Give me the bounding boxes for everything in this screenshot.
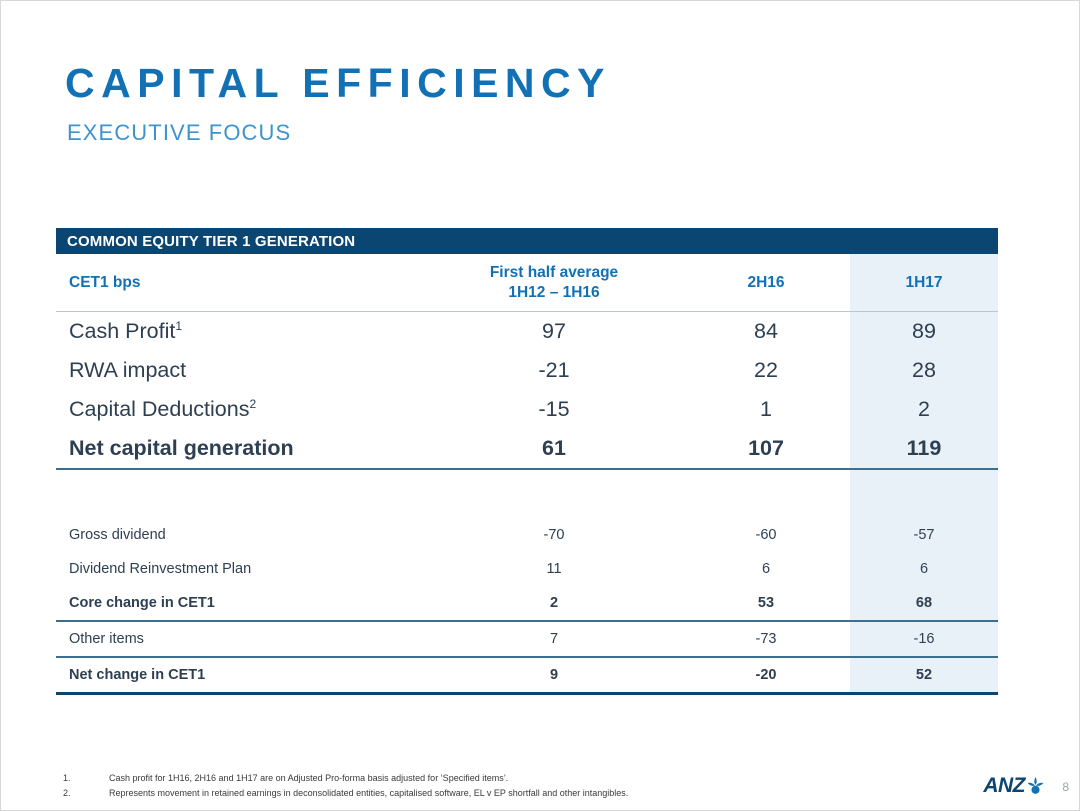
cell-rwa-impact-first-half-average: -21: [426, 351, 682, 390]
cell-core-change-1h17: 68: [850, 586, 998, 621]
cell-drp-first-half-average: 11: [426, 552, 682, 586]
spacer-cell-highlight: [850, 469, 998, 518]
header-col1-line1: First half average: [426, 263, 682, 282]
cell-net-change-2h16: -20: [682, 657, 850, 694]
cell-net-change-1h17: 52: [850, 657, 998, 694]
cell-gross-dividend-2h16: -60: [682, 518, 850, 552]
table-row: Gross dividend -70 -60 -57: [56, 518, 998, 552]
footnote-text: Represents movement in retained earnings…: [109, 788, 628, 799]
table-row-total: Net capital generation 61 107 119: [56, 429, 998, 469]
footnote-text: Cash profit for 1H16, 2H16 and 1H17 are …: [109, 773, 508, 784]
table-row: Capital Deductions2 -15 1 2: [56, 390, 998, 429]
cell-rwa-impact-2h16: 22: [682, 351, 850, 390]
cell-gross-dividend-first-half-average: -70: [426, 518, 682, 552]
row-label-rwa-impact: RWA impact: [56, 351, 426, 390]
cell-net-capital-generation-1h17: 119: [850, 429, 998, 469]
cell-cash-profit-first-half-average: 97: [426, 312, 682, 352]
cell-drp-2h16: 6: [682, 552, 850, 586]
cell-capital-deductions-1h17: 2: [850, 390, 998, 429]
table-row: Dividend Reinvestment Plan 11 6 6: [56, 552, 998, 586]
table-row: Cash Profit1 97 84 89: [56, 312, 998, 352]
cell-cash-profit-2h16: 84: [682, 312, 850, 352]
footnotes-block: 1. Cash profit for 1H16, 2H16 and 1H17 a…: [63, 773, 923, 803]
cell-rwa-impact-1h17: 28: [850, 351, 998, 390]
footnote-ref-2: 2: [249, 397, 256, 411]
spacer-cell: [426, 469, 682, 518]
row-label-net-change-in-cet1: Net change in CET1: [56, 657, 426, 694]
header-col1-line2: 1H12 – 1H16: [426, 283, 682, 302]
footnote-ref-1: 1: [175, 319, 182, 333]
page-title: CAPITAL EFFICIENCY: [65, 63, 611, 104]
cet1-table-container: COMMON EQUITY TIER 1 GENERATION CET1 bps…: [56, 228, 998, 695]
page-number: 8: [1062, 781, 1069, 793]
cell-cash-profit-1h17: 89: [850, 312, 998, 352]
table-section-band: COMMON EQUITY TIER 1 GENERATION: [56, 228, 998, 254]
slide-canvas: CAPITAL EFFICIENCY EXECUTIVE FOCUS COMMO…: [0, 0, 1080, 811]
footnote-item: 2. Represents movement in retained earni…: [63, 788, 923, 799]
cell-capital-deductions-2h16: 1: [682, 390, 850, 429]
cell-capital-deductions-first-half-average: -15: [426, 390, 682, 429]
row-label-net-capital-generation: Net capital generation: [56, 429, 426, 469]
cell-core-change-2h16: 53: [682, 586, 850, 621]
header-col-2h16: 2H16: [682, 254, 850, 312]
header-label-cet1-bps: CET1 bps: [56, 254, 426, 312]
cell-gross-dividend-1h17: -57: [850, 518, 998, 552]
cell-net-capital-generation-first-half-average: 61: [426, 429, 682, 469]
header-col-1h17: 1H17: [850, 254, 998, 312]
table-row-total: Net change in CET1 9 -20 52: [56, 657, 998, 694]
row-label-core-change-in-cet1: Core change in CET1: [56, 586, 426, 621]
row-label-other-items: Other items: [56, 621, 426, 657]
spacer-cell: [56, 469, 426, 518]
page-subtitle: EXECUTIVE FOCUS: [67, 122, 291, 144]
table-row-total: Core change in CET1 2 53 68: [56, 586, 998, 621]
anz-wordmark: ANZ: [983, 775, 1025, 796]
cell-core-change-first-half-average: 2: [426, 586, 682, 621]
footnote-number: 1.: [63, 773, 109, 783]
table-band-label: COMMON EQUITY TIER 1 GENERATION: [67, 234, 355, 249]
footnote-item: 1. Cash profit for 1H16, 2H16 and 1H17 a…: [63, 773, 923, 784]
anz-lotus-icon: [1025, 775, 1046, 796]
cell-net-change-first-half-average: 9: [426, 657, 682, 694]
header-col-first-half-average: First half average 1H12 – 1H16: [426, 254, 682, 312]
cell-net-capital-generation-2h16: 107: [682, 429, 850, 469]
cell-drp-1h17: 6: [850, 552, 998, 586]
row-label-text: Cash Profit: [69, 319, 175, 343]
row-label-capital-deductions: Capital Deductions2: [56, 390, 426, 429]
anz-logo: ANZ: [983, 775, 1046, 796]
table-header-row: CET1 bps First half average 1H12 – 1H16 …: [56, 254, 998, 312]
cell-other-items-2h16: -73: [682, 621, 850, 657]
table-row: RWA impact -21 22 28: [56, 351, 998, 390]
table-spacer-row: [56, 469, 998, 518]
cell-other-items-1h17: -16: [850, 621, 998, 657]
table-row: Other items 7 -73 -16: [56, 621, 998, 657]
spacer-cell: [682, 469, 850, 518]
row-label-text: Capital Deductions: [69, 397, 249, 421]
row-label-dividend-reinvestment-plan: Dividend Reinvestment Plan: [56, 552, 426, 586]
footnote-number: 2.: [63, 788, 109, 798]
cell-other-items-first-half-average: 7: [426, 621, 682, 657]
cet1-generation-table: CET1 bps First half average 1H12 – 1H16 …: [56, 254, 998, 695]
row-label-cash-profit: Cash Profit1: [56, 312, 426, 352]
row-label-gross-dividend: Gross dividend: [56, 518, 426, 552]
